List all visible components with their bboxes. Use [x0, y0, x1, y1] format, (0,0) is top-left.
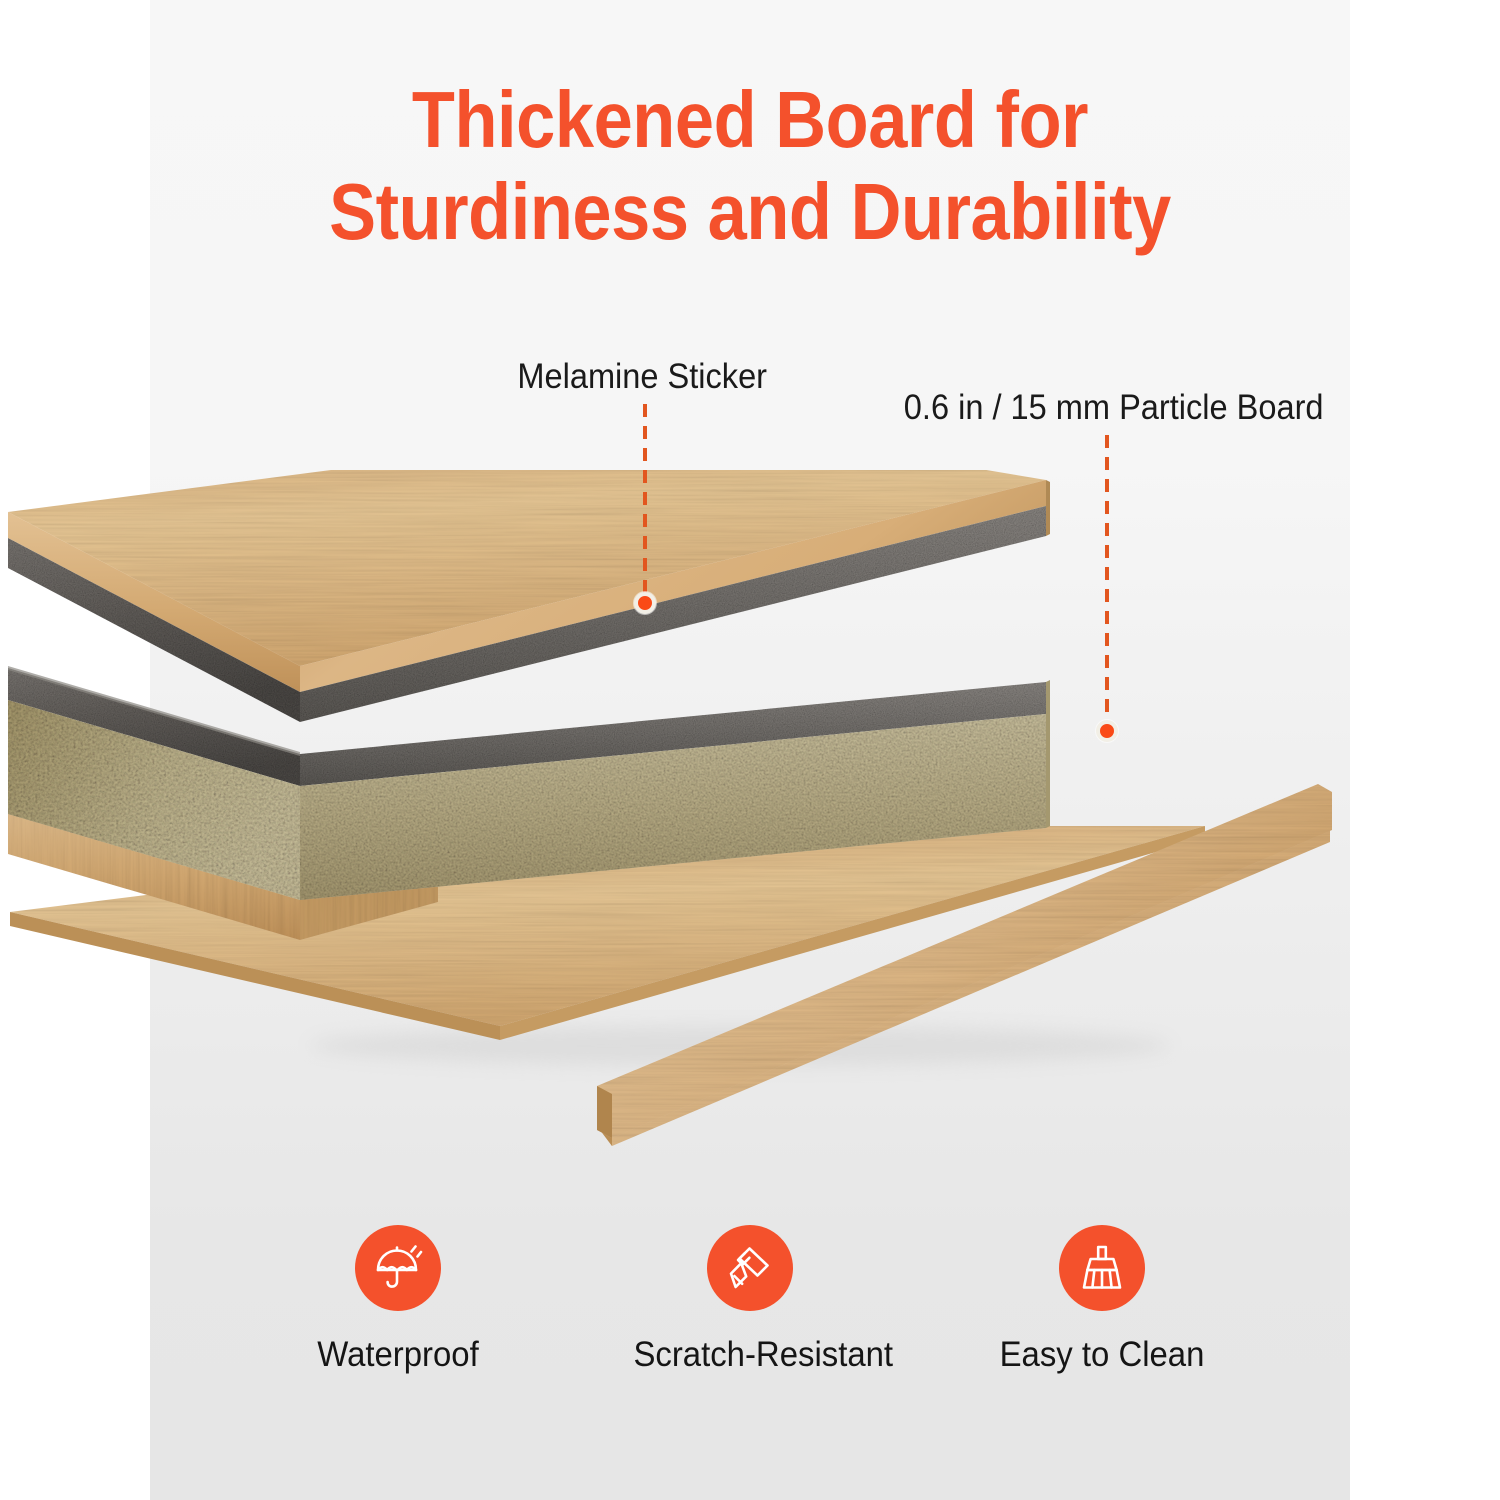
title-line-2: Sturdiness and Durability [90, 166, 1410, 258]
easy-to-clean-badge [1059, 1225, 1145, 1311]
waterproof-badge [355, 1225, 441, 1311]
callout-leader-dot [1096, 720, 1118, 742]
feature-label: Waterproof [281, 1335, 514, 1375]
scratch-resistant-badge [707, 1225, 793, 1311]
product-feature-panel: Thickened Board for Sturdiness and Durab… [0, 0, 1500, 1500]
callout-leader-line [643, 404, 647, 600]
feature-label: Easy to Clean [985, 1335, 1218, 1375]
feature-easy-to-clean: Easy to Clean [978, 1225, 1226, 1375]
callout-particle-label: 0.6 in / 15 mm Particle Board [904, 388, 1324, 428]
feature-list: Waterproof Scratch-Resistant [150, 1225, 1350, 1375]
board-illustration [0, 470, 1500, 1170]
umbrella-icon [372, 1242, 424, 1294]
title-line-1: Thickened Board for [90, 74, 1410, 166]
feature-label: Scratch-Resistant [633, 1335, 866, 1375]
brush-icon [1076, 1242, 1128, 1294]
callout-leader-line [1105, 435, 1109, 727]
page-title: Thickened Board for Sturdiness and Durab… [0, 74, 1500, 258]
callout-melamine-label: Melamine Sticker [517, 357, 767, 397]
sanding-block-icon [724, 1242, 776, 1294]
callout-leader-dot [634, 592, 656, 614]
feature-scratch-resistant: Scratch-Resistant [626, 1225, 874, 1375]
feature-waterproof: Waterproof [274, 1225, 522, 1375]
